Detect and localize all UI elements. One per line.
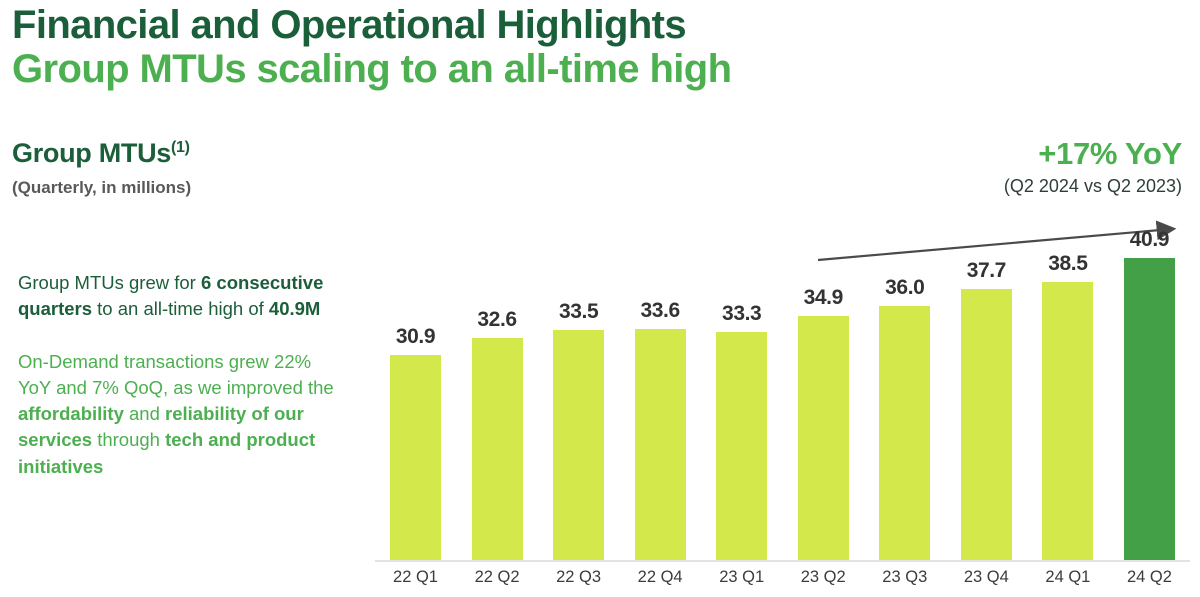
- bar[interactable]: [553, 330, 604, 561]
- commentary-paragraph-1: Group MTUs grew for 6 consecutive quarte…: [18, 270, 338, 323]
- x-axis-tick-label: 23 Q4: [946, 568, 1027, 587]
- x-axis-tick-label: 23 Q2: [783, 568, 864, 587]
- x-axis-tick-label: 24 Q1: [1027, 568, 1108, 587]
- x-axis-tick-label: 22 Q3: [538, 568, 619, 587]
- bar[interactable]: [879, 306, 930, 561]
- slide-header: Financial and Operational Highlights Gro…: [12, 4, 1182, 92]
- bar-value-label: 33.6: [641, 299, 680, 323]
- footnote-marker: (1): [171, 139, 190, 156]
- yoy-callout: +17% YoY (Q2 2024 vs Q2 2023): [1004, 136, 1182, 197]
- bar[interactable]: [472, 338, 523, 561]
- chart-heading: Group MTUs(1) (Quarterly, in millions): [12, 138, 191, 198]
- bar-column[interactable]: 30.9: [375, 210, 456, 561]
- chart-units-label: (Quarterly, in millions): [12, 178, 191, 198]
- x-axis-tick-labels: 22 Q122 Q222 Q322 Q423 Q123 Q223 Q323 Q4…: [375, 568, 1190, 587]
- bar-column[interactable]: 36.0: [864, 210, 945, 561]
- chart-title: Group MTUs(1): [12, 138, 191, 169]
- bar-value-label: 30.9: [396, 325, 435, 349]
- bar-value-label: 33.5: [559, 300, 598, 324]
- commentary-paragraph-2: On-Demand transactions grew 22% YoY and …: [18, 349, 338, 480]
- x-axis-tick-label: 23 Q1: [701, 568, 782, 587]
- bar-value-label: 34.9: [804, 286, 843, 310]
- yoy-headline: +17% YoY: [1004, 136, 1182, 172]
- bar-value-label: 40.9: [1130, 228, 1169, 252]
- x-axis-tick-label: 23 Q3: [864, 568, 945, 587]
- bar-value-label: 32.6: [477, 308, 516, 332]
- yoy-comparison-label: (Q2 2024 vs Q2 2023): [1004, 176, 1182, 197]
- bar-column[interactable]: 33.6: [620, 210, 701, 561]
- group-mtus-bar-chart: 30.932.633.533.633.334.936.037.738.540.9…: [375, 210, 1190, 595]
- body-text: through: [92, 429, 165, 450]
- bar-value-label: 37.7: [967, 259, 1006, 283]
- emphasis-text: affordability: [18, 403, 124, 424]
- x-axis-tick-label: 24 Q2: [1109, 568, 1190, 587]
- bar-column[interactable]: 33.3: [701, 210, 782, 561]
- x-axis-tick-label: 22 Q2: [457, 568, 538, 587]
- chart-plot-area: 30.932.633.533.633.334.936.037.738.540.9: [375, 210, 1190, 561]
- page-title: Financial and Operational Highlights: [12, 4, 1182, 47]
- body-text: On-Demand transactions grew 22% YoY and …: [18, 351, 334, 398]
- page-subtitle: Group MTUs scaling to an all-time high: [12, 47, 1182, 92]
- bar-column[interactable]: 37.7: [946, 210, 1027, 561]
- bar-value-label: 33.3: [722, 302, 761, 326]
- bar[interactable]: [1042, 282, 1093, 561]
- bar-column[interactable]: 34.9: [783, 210, 864, 561]
- bar[interactable]: [716, 332, 767, 561]
- body-text: Group MTUs grew for: [18, 272, 201, 293]
- emphasis-text: 40.9M: [269, 298, 320, 319]
- bar[interactable]: [635, 329, 686, 561]
- chart-title-text: Group MTUs: [12, 138, 171, 168]
- bar[interactable]: [798, 316, 849, 561]
- commentary-block: Group MTUs grew for 6 consecutive quarte…: [18, 270, 338, 480]
- bar-column[interactable]: 32.6: [457, 210, 538, 561]
- body-text: to an all-time high of: [92, 298, 269, 319]
- bar[interactable]: [390, 355, 441, 561]
- bar[interactable]: [961, 289, 1012, 561]
- bar-value-label: 36.0: [885, 276, 924, 300]
- bar-column[interactable]: 33.5: [538, 210, 619, 561]
- bar-column[interactable]: 38.5: [1027, 210, 1108, 561]
- x-axis-tick-label: 22 Q1: [375, 568, 456, 587]
- bar-column[interactable]: 40.9: [1109, 210, 1190, 561]
- x-axis-tick-label: 22 Q4: [620, 568, 701, 587]
- x-axis-line: [375, 560, 1190, 562]
- bar[interactable]: [1124, 258, 1175, 561]
- bar-value-label: 38.5: [1048, 252, 1087, 276]
- body-text: and: [124, 403, 165, 424]
